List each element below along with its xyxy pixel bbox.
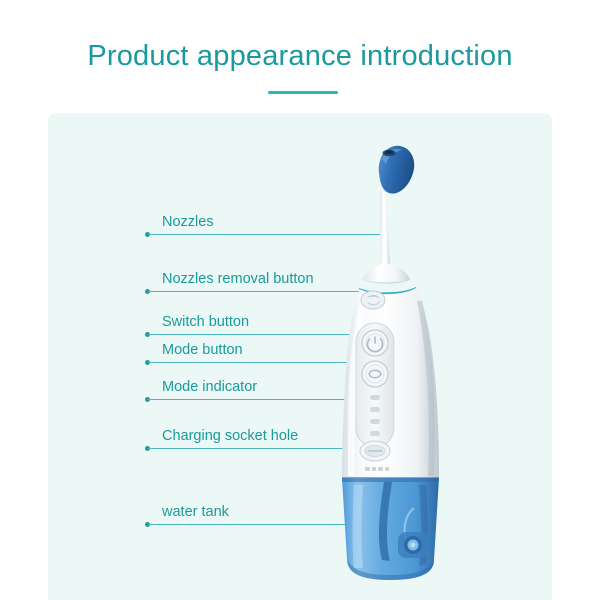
nozzles-removal-button[interactable] <box>361 291 385 309</box>
callout-label: Nozzles removal button <box>162 271 314 287</box>
water-flosser-illustration <box>318 140 468 585</box>
control-panel <box>356 323 394 447</box>
charging-socket-hole[interactable] <box>360 441 390 461</box>
nozzle-collar <box>362 264 410 284</box>
callout-label: Mode button <box>162 342 243 358</box>
callout-label: Mode indicator <box>162 379 257 395</box>
product-panel <box>48 113 552 600</box>
water-tank <box>342 477 439 580</box>
mode-button[interactable] <box>362 361 388 387</box>
title-underline-accent <box>268 91 338 94</box>
nozzle-stem <box>380 192 390 266</box>
nozzle-tip <box>379 146 414 194</box>
callout-label: water tank <box>162 504 229 520</box>
callout-label: Nozzles <box>162 214 214 230</box>
callout-label: Charging socket hole <box>162 428 298 444</box>
page-title: Product appearance introduction <box>0 40 600 73</box>
callout-label: Switch button <box>162 314 249 330</box>
product-introduction-page: Product appearance introduction NozzlesN… <box>0 0 600 600</box>
switch-button[interactable] <box>362 330 388 356</box>
tank-valve <box>398 532 428 558</box>
